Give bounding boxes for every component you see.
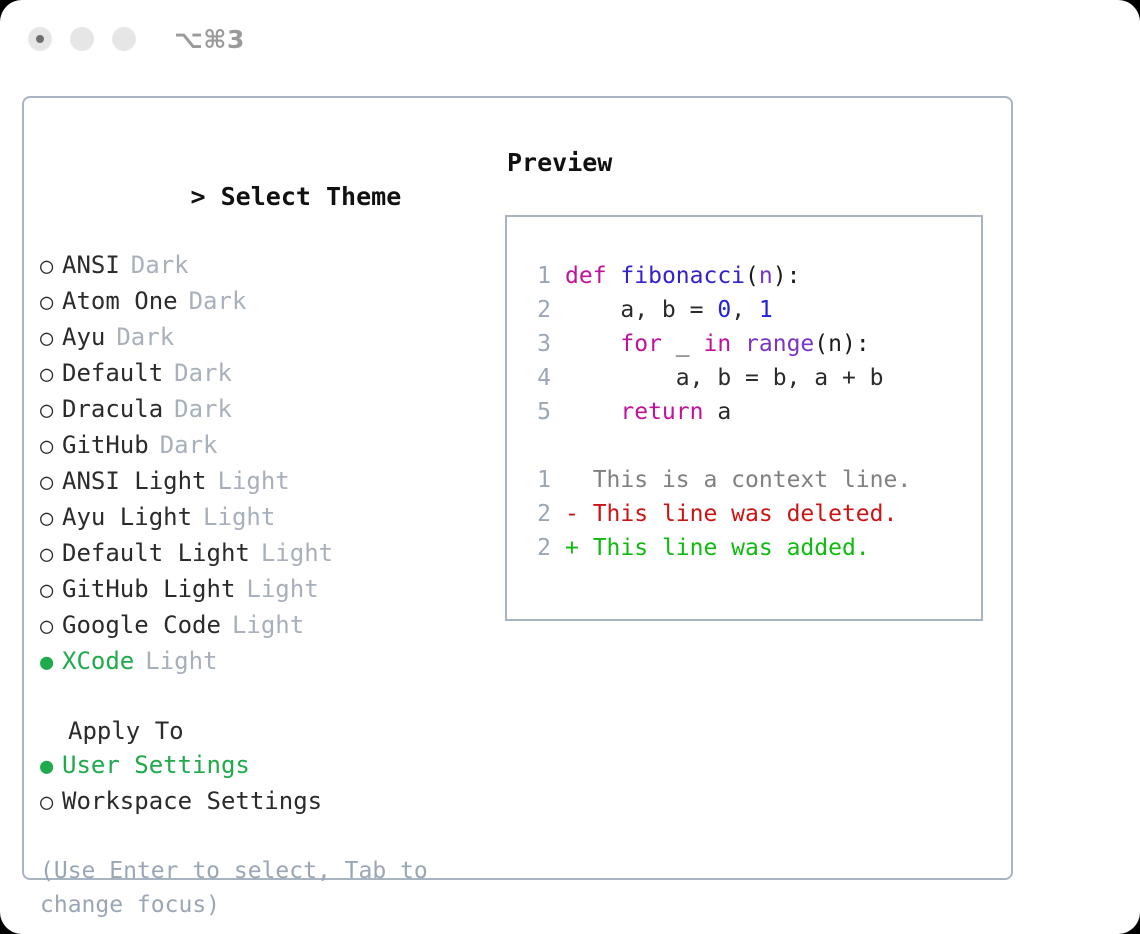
apply-to-option-user-settings[interactable]: ●User Settings xyxy=(40,748,502,784)
code-blank-line xyxy=(525,429,981,463)
radio-unselected-icon: ○ xyxy=(40,786,62,820)
keyboard-shortcut-label: ⌥⌘3 xyxy=(174,25,245,54)
main-panel: > Select Theme ○ANSIDark○Atom OneDark○Ay… xyxy=(22,96,1013,880)
diff-line: 2- This line was deleted. xyxy=(525,497,981,531)
code-token: fibonacci xyxy=(620,263,745,289)
theme-selector-column: > Select Theme ○ANSIDark○Atom OneDark○Ay… xyxy=(24,98,502,878)
theme-option-kind-badge: Dark xyxy=(131,248,189,282)
theme-option-kind-badge: Dark xyxy=(174,356,232,390)
theme-option-github-light[interactable]: ○GitHub LightLight xyxy=(40,572,502,608)
diff-text: This line was deleted. xyxy=(579,501,898,527)
theme-option-xcode[interactable]: ●XCodeLight xyxy=(40,644,502,680)
theme-option-default-light[interactable]: ○Default LightLight xyxy=(40,536,502,572)
diff-sample: 1 This is a context line.2- This line wa… xyxy=(525,463,981,565)
diff-line-number: 2 xyxy=(525,497,551,531)
apply-to-heading: Apply To xyxy=(40,714,502,748)
radio-selected-icon: ● xyxy=(40,646,62,680)
radio-unselected-icon: ○ xyxy=(40,502,62,536)
code-token: a, b = xyxy=(565,297,717,323)
theme-option-label: Atom One xyxy=(62,284,178,318)
code-line: 2 a, b = 0, 1 xyxy=(525,293,981,327)
radio-unselected-icon: ○ xyxy=(40,250,62,284)
window-controls xyxy=(28,27,136,51)
section-spacer xyxy=(40,680,502,714)
code-token: 0 xyxy=(717,297,731,323)
code-token: (n): xyxy=(814,331,869,357)
theme-option-kind-badge: Dark xyxy=(116,320,174,354)
window-dot-2-icon[interactable] xyxy=(70,27,94,51)
code-token: range xyxy=(745,331,814,357)
theme-option-kind-badge: Light xyxy=(203,500,275,534)
code-token: a, b = b, a + b xyxy=(565,365,884,391)
theme-option-dracula[interactable]: ○DraculaDark xyxy=(40,392,502,428)
prompt-caret-icon: > xyxy=(191,182,221,211)
diff-text: This line was added. xyxy=(579,535,870,561)
code-line-number: 3 xyxy=(525,327,551,361)
theme-option-kind-badge: Light xyxy=(232,608,304,642)
theme-option-kind-badge: Dark xyxy=(174,392,232,426)
theme-option-label: ANSI xyxy=(62,248,120,282)
preview-column: Preview 1def fibonacci(n):2 a, b = 0, 13… xyxy=(502,98,1011,878)
radio-unselected-icon: ○ xyxy=(40,466,62,500)
preview-heading: Preview xyxy=(507,146,1011,180)
diff-line: 1 This is a context line. xyxy=(525,463,981,497)
radio-unselected-icon: ○ xyxy=(40,394,62,428)
theme-option-label: GitHub xyxy=(62,428,149,462)
theme-option-label: Ayu Light xyxy=(62,500,192,534)
code-token: ): xyxy=(773,263,801,289)
radio-unselected-icon: ○ xyxy=(40,610,62,644)
theme-option-kind-badge: Dark xyxy=(189,284,247,318)
apply-to-option-workspace-settings[interactable]: ○Workspace Settings xyxy=(40,784,502,820)
theme-option-ayu-light[interactable]: ○Ayu LightLight xyxy=(40,500,502,536)
theme-option-label: Default Light xyxy=(62,536,250,570)
theme-option-label: Default xyxy=(62,356,163,390)
code-token: n xyxy=(759,263,773,289)
theme-option-label: ANSI Light xyxy=(62,464,207,498)
code-preview-box: 1def fibonacci(n):2 a, b = 0, 13 for _ i… xyxy=(505,215,983,621)
keyboard-hint-text: (Use Enter to select, Tab to change focu… xyxy=(40,854,460,922)
code-line: 1def fibonacci(n): xyxy=(525,259,981,293)
diff-text: This is a context line. xyxy=(579,467,911,493)
app-window: ⌥⌘3 > Select Theme ○ANSIDark○Atom OneDar… xyxy=(0,0,1140,934)
code-token xyxy=(565,331,620,357)
theme-option-label: XCode xyxy=(62,644,134,678)
code-token xyxy=(607,263,621,289)
code-token xyxy=(565,399,620,425)
code-token: _ xyxy=(662,331,704,357)
theme-option-ansi[interactable]: ○ANSIDark xyxy=(40,248,502,284)
theme-option-list: ○ANSIDark○Atom OneDark○AyuDark○DefaultDa… xyxy=(40,248,502,680)
apply-to-option-label: Workspace Settings xyxy=(62,784,322,818)
radio-unselected-icon: ○ xyxy=(40,538,62,572)
radio-selected-icon: ● xyxy=(40,750,62,784)
theme-option-ayu[interactable]: ○AyuDark xyxy=(40,320,502,356)
theme-option-default[interactable]: ○DefaultDark xyxy=(40,356,502,392)
diff-marker: + xyxy=(565,535,579,561)
theme-option-atom-one[interactable]: ○Atom OneDark xyxy=(40,284,502,320)
diff-line-number: 1 xyxy=(525,463,551,497)
theme-option-label: Dracula xyxy=(62,392,163,426)
code-token: 1 xyxy=(759,297,773,323)
window-dot-3-icon[interactable] xyxy=(112,27,136,51)
theme-option-kind-badge: Dark xyxy=(160,428,218,462)
select-theme-heading: > Select Theme xyxy=(40,146,502,248)
diff-line-number: 2 xyxy=(525,531,551,565)
theme-option-ansi-light[interactable]: ○ANSI LightLight xyxy=(40,464,502,500)
apply-to-option-label: User Settings xyxy=(62,748,250,782)
code-token xyxy=(731,331,745,357)
code-line-number: 5 xyxy=(525,395,551,429)
theme-option-kind-badge: Light xyxy=(145,644,217,678)
select-theme-title: Select Theme xyxy=(221,182,402,211)
diff-line: 2+ This line was added. xyxy=(525,531,981,565)
theme-option-label: GitHub Light xyxy=(62,572,235,606)
diff-marker: - xyxy=(565,501,579,527)
theme-option-label: Ayu xyxy=(62,320,105,354)
code-line-number: 2 xyxy=(525,293,551,327)
radio-unselected-icon: ○ xyxy=(40,358,62,392)
code-token: def xyxy=(565,263,607,289)
theme-option-kind-badge: Light xyxy=(261,536,333,570)
radio-unselected-icon: ○ xyxy=(40,574,62,608)
code-line-number: 1 xyxy=(525,259,551,293)
radio-unselected-icon: ○ xyxy=(40,430,62,464)
code-token: in xyxy=(703,331,731,357)
diff-marker xyxy=(565,467,579,493)
code-sample: 1def fibonacci(n):2 a, b = 0, 13 for _ i… xyxy=(525,259,981,429)
theme-option-kind-badge: Light xyxy=(218,464,290,498)
code-line: 5 return a xyxy=(525,395,981,429)
code-line-number: 4 xyxy=(525,361,551,395)
code-line: 4 a, b = b, a + b xyxy=(525,361,981,395)
radio-unselected-icon: ○ xyxy=(40,286,62,320)
code-line: 3 for _ in range(n): xyxy=(525,327,981,361)
code-token: return xyxy=(620,399,703,425)
apply-to-option-list: ●User Settings○Workspace Settings xyxy=(40,748,502,820)
code-token: a xyxy=(703,399,731,425)
code-token: for xyxy=(620,331,662,357)
code-token: , xyxy=(731,297,759,323)
theme-option-github[interactable]: ○GitHubDark xyxy=(40,428,502,464)
theme-option-label: Google Code xyxy=(62,608,221,642)
theme-option-kind-badge: Light xyxy=(246,572,318,606)
theme-option-google-code[interactable]: ○Google CodeLight xyxy=(40,608,502,644)
code-token: ( xyxy=(745,263,759,289)
window-dot-1-icon[interactable] xyxy=(28,27,52,51)
title-bar: ⌥⌘3 xyxy=(0,0,1140,78)
radio-unselected-icon: ○ xyxy=(40,322,62,356)
